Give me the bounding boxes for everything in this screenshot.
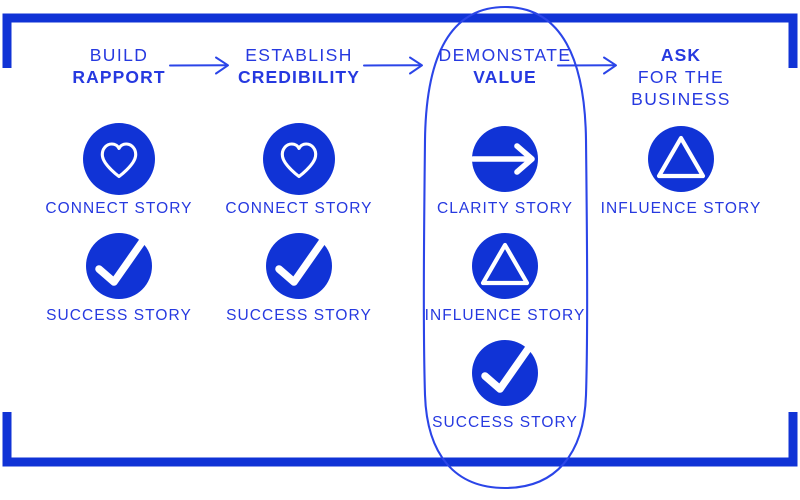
story-list: INFLUENCE STORY [591,123,771,218]
story-item-clarity-story[interactable]: CLARITY STORY [415,123,595,218]
story-item-label: SUCCESS STORY [29,307,209,325]
story-list: CONNECT STORY SUCCESS STORY [209,123,389,325]
heading-line-2: RAPPORT [29,66,209,88]
heading-line-3: BUSINESS [591,88,771,110]
heart-outline-icon [263,123,335,195]
heading-line-2: VALUE [415,66,595,88]
heart-outline-icon [83,123,155,195]
check-icon [263,230,335,302]
stage-heading: DEMONSTATE VALUE [415,44,595,88]
stage-column-demonstate-value: DEMONSTATE VALUE CLARITY STORY [415,44,595,432]
triangle-outline-icon [469,230,541,302]
arrow-right-circle-icon [469,123,541,195]
story-item-label: SUCCESS STORY [415,414,595,432]
heading-line-2: FOR THE [591,66,771,88]
story-item-label: CONNECT STORY [209,200,389,218]
story-item-label: INFLUENCE STORY [415,307,595,325]
check-icon [83,230,155,302]
stage-heading: ASK FOR THE BUSINESS [591,44,771,110]
heading-line-2: CREDIBILITY [209,66,389,88]
frame-bottom-bracket [7,412,793,462]
story-item-label: CONNECT STORY [29,200,209,218]
story-item-influence-story[interactable]: INFLUENCE STORY [415,230,595,325]
heading-line-1: ESTABLISH [209,44,389,66]
story-item-success-story[interactable]: SUCCESS STORY [29,230,209,325]
story-item-connect-story[interactable]: CONNECT STORY [209,123,389,218]
stage-column-establish-credibility: ESTABLISH CREDIBILITY CONNECT STORY [209,44,389,325]
story-list: CONNECT STORY SUCCESS STORY [29,123,209,325]
story-item-success-story[interactable]: SUCCESS STORY [415,337,595,432]
diagram-canvas: BUILD RAPPORT CONNECT STORY [0,0,800,500]
story-item-connect-story[interactable]: CONNECT STORY [29,123,209,218]
triangle-outline-icon [645,123,717,195]
heading-line-1: BUILD [29,44,209,66]
check-icon [469,337,541,409]
stage-column-build-rapport: BUILD RAPPORT CONNECT STORY [29,44,209,325]
story-item-influence-story[interactable]: INFLUENCE STORY [591,123,771,218]
story-item-label: SUCCESS STORY [209,307,389,325]
heading-line-1: ASK [591,44,771,66]
story-item-label: CLARITY STORY [415,200,595,218]
stage-heading: ESTABLISH CREDIBILITY [209,44,389,88]
story-list: CLARITY STORY INFLUENCE STORY [415,123,595,432]
heading-line-1: DEMONSTATE [415,44,595,66]
stage-column-ask-for-the-business: ASK FOR THE BUSINESS INFLUENCE STORY [591,44,771,218]
story-item-success-story[interactable]: SUCCESS STORY [209,230,389,325]
story-item-label: INFLUENCE STORY [591,200,771,218]
stage-heading: BUILD RAPPORT [29,44,209,88]
